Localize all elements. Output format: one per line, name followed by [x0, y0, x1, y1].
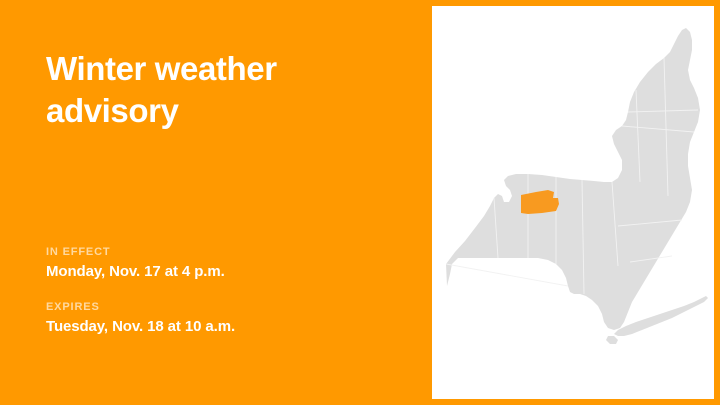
in-effect-label: IN EFFECT — [46, 246, 396, 260]
expires-value: Tuesday, Nov. 18 at 10 a.m. — [46, 316, 396, 337]
state-silhouette — [446, 28, 708, 344]
expires-group: EXPIRES Tuesday, Nov. 18 at 10 a.m. — [46, 301, 396, 337]
advisory-timing-block: IN EFFECT Monday, Nov. 17 at 4 p.m. EXPI… — [46, 246, 396, 337]
expires-label: EXPIRES — [46, 301, 396, 315]
winter-weather-advisory-graphic: Winter weather advisory IN EFFECT Monday… — [0, 0, 720, 405]
in-effect-value: Monday, Nov. 17 at 4 p.m. — [46, 261, 396, 282]
page-title: Winter weather advisory — [46, 48, 376, 132]
alert-content-panel: Winter weather advisory IN EFFECT Monday… — [0, 0, 432, 405]
map-panel — [432, 6, 714, 399]
in-effect-group: IN EFFECT Monday, Nov. 17 at 4 p.m. — [46, 246, 396, 282]
new-york-state-map — [432, 6, 714, 399]
